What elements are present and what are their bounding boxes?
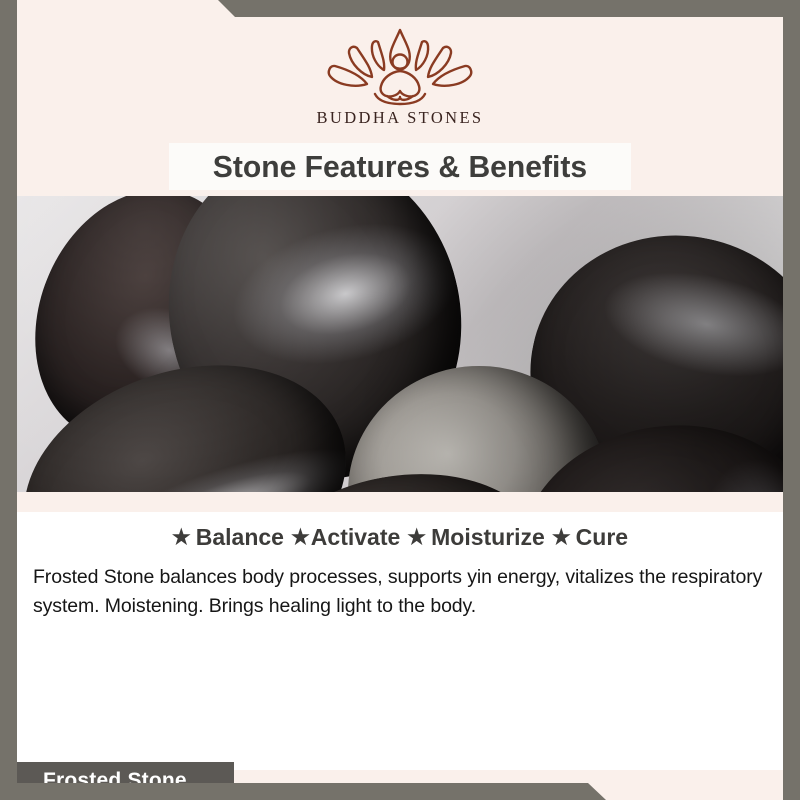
content-area: ★ Balance ★ Activate ★ Moisturize ★ Cure… — [0, 512, 800, 770]
benefit-item: ★ Moisturize — [407, 524, 545, 551]
brand-logo: BUDDHA STONES — [0, 22, 800, 128]
frame-left-border — [0, 0, 17, 800]
product-photo — [0, 196, 800, 492]
star-icon: ★ — [172, 527, 191, 548]
frame-right-border — [783, 0, 800, 800]
benefits-list: ★ Balance ★ Activate ★ Moisturize ★ Cure — [0, 512, 800, 551]
benefit-label: Cure — [576, 524, 628, 551]
star-icon: ★ — [407, 527, 426, 548]
star-icon: ★ — [291, 527, 310, 548]
benefit-label: Balance — [196, 524, 284, 551]
title-banner: Stone Features & Benefits — [169, 143, 631, 190]
benefit-item: ★ Activate — [291, 524, 400, 551]
photo-bottom-strip — [0, 492, 800, 512]
product-feature-card: BUDDHA STONES Stone Features & Benefits … — [0, 0, 800, 800]
page-title: Stone Features & Benefits — [213, 149, 587, 185]
star-icon: ★ — [552, 527, 571, 548]
benefit-label: Moisturize — [431, 524, 545, 551]
lotus-meditation-figure-icon — [0, 22, 800, 106]
brand-name: BUDDHA STONES — [0, 108, 800, 128]
product-description: Frosted Stone balances body processes, s… — [33, 563, 767, 621]
benefit-item: ★ Balance — [172, 524, 284, 551]
benefit-item: ★ Cure — [552, 524, 628, 551]
benefit-label: Activate — [311, 524, 400, 551]
